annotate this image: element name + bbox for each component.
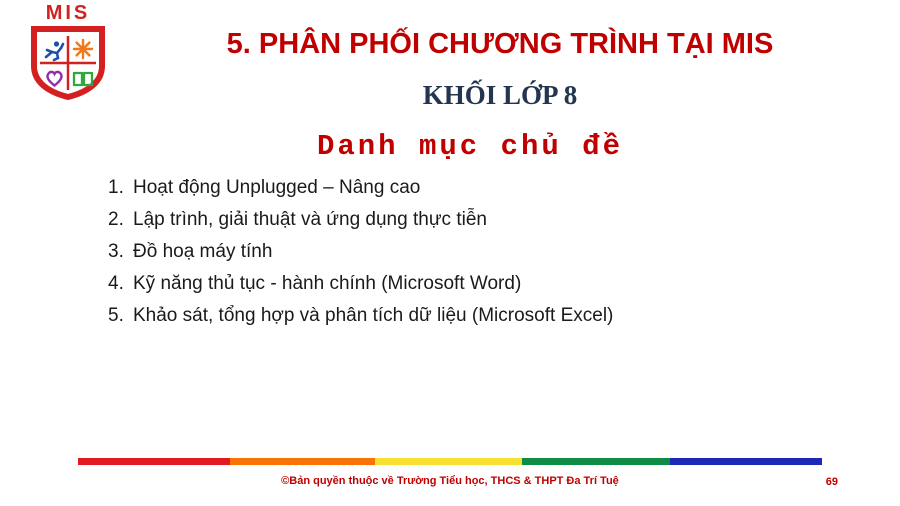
list-item-label: Đồ hoạ máy tính xyxy=(133,236,272,268)
page-subtitle: KHỐI LỚP 8 xyxy=(120,80,880,111)
list-item-number: 4. xyxy=(108,268,133,300)
color-bar-segment-green xyxy=(522,458,670,465)
shield-icon xyxy=(30,26,106,100)
color-bar-segment-orange xyxy=(230,458,375,465)
slide-canvas: MIS xyxy=(0,0,900,506)
list-item-label: Lập trình, giải thuật và ứng dụng thực t… xyxy=(133,204,487,236)
list-item-number: 1. xyxy=(108,172,133,204)
logo-wordmark: MIS xyxy=(22,2,114,24)
page-title: 5. PHÂN PHỐI CHƯƠNG TRÌNH TẠI MIS xyxy=(120,28,880,61)
color-bar-segment-yellow xyxy=(375,458,522,465)
list-item-number: 3. xyxy=(108,236,133,268)
list-item-label: Hoạt động Unplugged – Nâng cao xyxy=(133,172,420,204)
list-item-label: Khảo sát, tổng hợp và phân tích dữ liệu … xyxy=(133,300,613,332)
topic-list: 1. Hoạt động Unplugged – Nâng cao 2. Lập… xyxy=(108,172,848,332)
sun-burst-icon xyxy=(74,40,92,58)
list-item: 2. Lập trình, giải thuật và ứng dụng thự… xyxy=(108,204,848,236)
list-item-number: 5. xyxy=(108,300,133,332)
color-bar-segment-blue xyxy=(670,458,822,465)
footer-color-bar xyxy=(78,458,822,465)
footer-copyright: ©Bản quyền thuộc về Trường Tiểu học, THC… xyxy=(0,475,900,487)
list-item: 4. Kỹ năng thủ tục - hành chính (Microso… xyxy=(108,268,848,300)
section-heading: Danh mục chủ đề xyxy=(100,130,840,163)
list-item-number: 2. xyxy=(108,204,133,236)
list-item: 5. Khảo sát, tổng hợp và phân tích dữ li… xyxy=(108,300,848,332)
list-item-label: Kỹ năng thủ tục - hành chính (Microsoft … xyxy=(133,268,521,300)
list-item: 1. Hoạt động Unplugged – Nâng cao xyxy=(108,172,848,204)
list-item: 3. Đồ hoạ máy tính xyxy=(108,236,848,268)
page-number: 69 xyxy=(826,476,838,488)
color-bar-segment-red xyxy=(78,458,230,465)
mis-logo: MIS xyxy=(22,2,114,100)
